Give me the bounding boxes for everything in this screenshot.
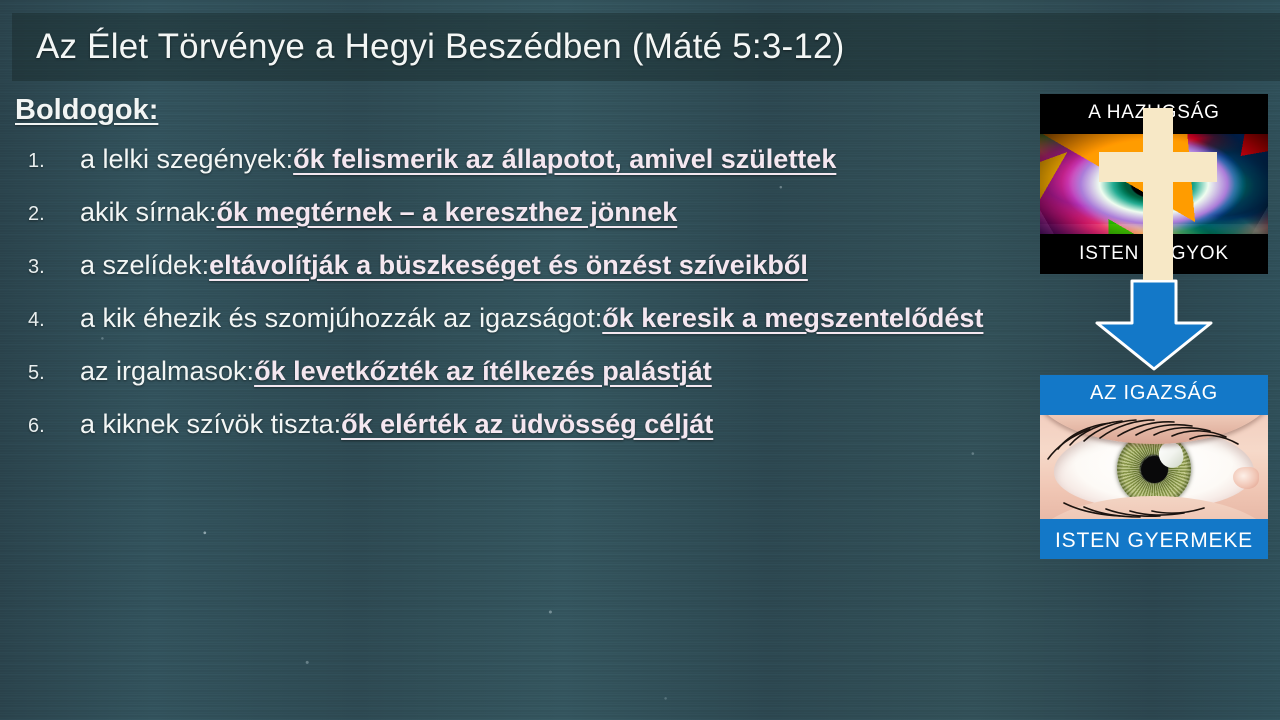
list-item-emphasis-text: ők elérték az üdvösség célját <box>341 410 713 438</box>
list-item: 5. az irgalmasok: ők levetkőzték az ítél… <box>12 357 1012 410</box>
list-item-plain-text: a kiknek szívök tiszta: <box>80 410 341 438</box>
lie-card: A HAZUGSÁG ISTEN VAGYOK <box>1040 94 1268 274</box>
list-item-plain-text: a lelki szegények: <box>80 145 293 173</box>
realistic-eye-image <box>1040 415 1268 519</box>
list-item: 4. a kik éhezik és szomjúhozzák az igazs… <box>12 304 1012 357</box>
list-item: 3. a szelídek: eltávolítják a büszkesége… <box>12 251 1012 304</box>
list-item-number: 5. <box>28 362 62 385</box>
page-title: Az Élet Törvénye a Hegyi Beszédben (Máté… <box>36 27 845 67</box>
lead-heading-text: Boldogok: <box>15 94 158 126</box>
list-item-plain-text: a kik éhezik és szomjúhozzák az igazságo… <box>80 304 602 332</box>
list-item-number: 4. <box>28 309 62 332</box>
list-item-number: 3. <box>28 256 62 279</box>
list-item: 2. akik sírnak: ők megtérnek – a kereszt… <box>12 198 1012 251</box>
truth-card-top-caption: AZ IGAZSÁG <box>1040 382 1268 405</box>
list-item: 6. a kiknek szívök tiszta: ők elérték az… <box>12 410 1012 463</box>
list-item-number: 1. <box>28 150 62 173</box>
list-item-emphasis-text: ők keresik a megszentelődést <box>602 304 983 332</box>
body-content: Boldogok: 1. a lelki szegények: ők felis… <box>12 96 1012 463</box>
beatitudes-list: 1. a lelki szegények: ők felismerik az á… <box>12 145 1012 463</box>
slide-canvas: Az Élet Törvénye a Hegyi Beszédben (Máté… <box>0 0 1280 720</box>
list-item-plain-text: a szelídek: <box>80 251 209 279</box>
eyelash-group <box>1040 415 1268 519</box>
lie-card-top-caption: A HAZUGSÁG <box>1040 102 1268 124</box>
title-band: Az Élet Törvénye a Hegyi Beszédben (Máté… <box>12 13 1280 81</box>
list-item-plain-text: az irgalmasok: <box>80 357 254 385</box>
list-item-number: 2. <box>28 203 62 226</box>
list-item-number: 6. <box>28 415 62 438</box>
lead-heading: Boldogok: <box>15 96 1012 125</box>
down-arrow-icon <box>1091 279 1217 371</box>
lie-card-bottom-caption: ISTEN VAGYOK <box>1040 243 1268 265</box>
low-poly-eye-image <box>1040 134 1268 234</box>
list-item-plain-text: akik sírnak: <box>80 198 217 226</box>
list-item-emphasis-text: ők felismerik az állapotot, amivel szüle… <box>293 145 836 173</box>
figure-column: A HAZUGSÁG ISTEN VAGYOK <box>1040 94 1270 559</box>
list-item: 1. a lelki szegények: ők felismerik az á… <box>12 145 1012 198</box>
truth-card-bottom-caption: ISTEN GYERMEKE <box>1040 529 1268 553</box>
list-item-emphasis-text: ők megtérnek – a kereszthez jönnek <box>217 198 678 226</box>
list-item-emphasis-text: eltávolítják a büszkeséget és önzést szí… <box>209 251 808 279</box>
list-item-emphasis-text: ők levetkőzték az ítélkezés palástját <box>254 357 712 385</box>
truth-card: AZ IGAZSÁG ISTEN GYERMEKE <box>1040 375 1268 559</box>
